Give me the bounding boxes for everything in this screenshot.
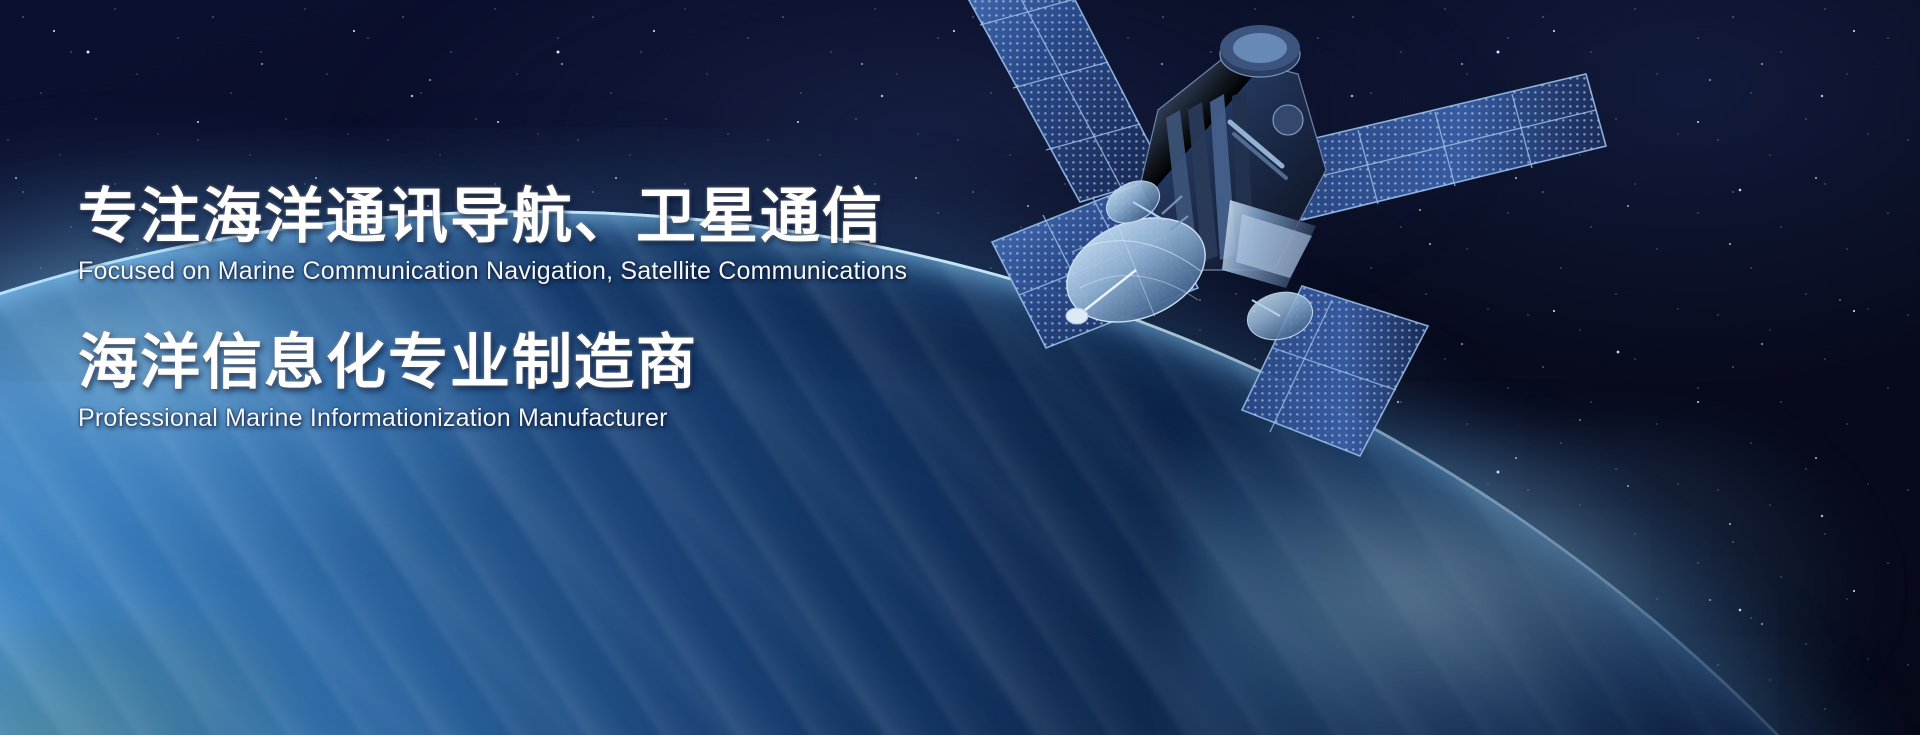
- limb-glow-right: [1180, 430, 1880, 735]
- slogan-spacer: [78, 286, 1078, 332]
- solar-panel-upper-left: [948, 0, 1166, 202]
- slogan-secondary: 海洋信息化专业制造商 Professional Marine Informati…: [78, 332, 1078, 432]
- subline-primary-en: Focused on Marine Communication Navigati…: [78, 257, 1078, 286]
- headline-secondary-cn: 海洋信息化专业制造商: [78, 332, 1078, 394]
- solar-panel-upper-right: [1282, 74, 1606, 220]
- hero-banner: 专注海洋通讯导航、卫星通信 Focused on Marine Communic…: [0, 0, 1920, 735]
- slogan-block: 专注海洋通讯导航、卫星通信 Focused on Marine Communic…: [78, 186, 1078, 433]
- slogan-primary: 专注海洋通讯导航、卫星通信 Focused on Marine Communic…: [78, 186, 1078, 286]
- subline-secondary-en: Professional Marine Informationization M…: [78, 404, 1078, 433]
- headline-primary-cn: 专注海洋通讯导航、卫星通信: [78, 186, 1078, 248]
